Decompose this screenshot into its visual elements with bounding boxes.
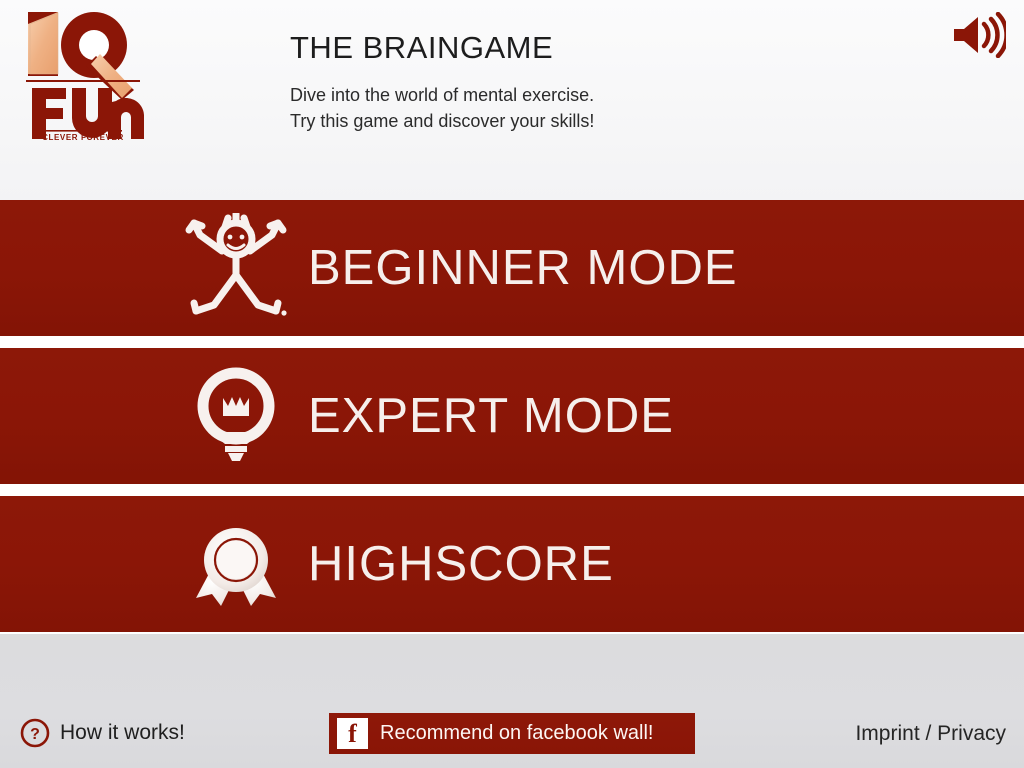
menu-item-expert-label: EXPERT MODE [308,388,674,444]
menu-item-beginner-label: BEGINNER MODE [308,240,738,296]
subtitle-line-2: Try this game and discover your skills! [290,108,594,134]
header: CLEVER FOREVER THE BRAINGAME Dive into t… [0,0,1024,200]
menu-item-highscore[interactable]: HIGHSCORE [0,496,1024,632]
logo-iq-fun: CLEVER FOREVER [18,6,148,144]
menu-item-beginner-mode[interactable]: BEGINNER MODE [0,200,1024,336]
main-menu: BEGINNER MODE EXPERT MODE [0,200,1024,632]
speaker-on-icon[interactable] [950,12,1006,58]
question-circle-icon: ? [20,718,50,748]
person-cheering-icon [178,210,294,326]
award-medal-icon [178,506,294,622]
subtitle-line-1: Dive into the world of mental exercise. [290,82,594,108]
svg-text:?: ? [30,726,40,743]
page-subtitle: Dive into the world of mental exercise. … [290,82,594,134]
how-it-works-label: How it works! [60,721,185,745]
app-screen: CLEVER FOREVER THE BRAINGAME Dive into t… [0,0,1024,768]
page-title: THE BRAINGAME [290,30,553,66]
menu-item-expert-mode[interactable]: EXPERT MODE [0,348,1024,484]
how-it-works-link[interactable]: ? How it works! [20,718,185,748]
menu-item-highscore-label: HIGHSCORE [308,536,614,592]
imprint-privacy-link[interactable]: Imprint / Privacy [855,722,1006,746]
recommend-facebook-label: Recommend on facebook wall! [380,722,653,745]
recommend-facebook-button[interactable]: f Recommend on facebook wall! [329,713,695,754]
lightbulb-icon [178,358,294,474]
svg-text:CLEVER FOREVER: CLEVER FOREVER [42,133,124,142]
facebook-f-icon: f [337,718,368,749]
